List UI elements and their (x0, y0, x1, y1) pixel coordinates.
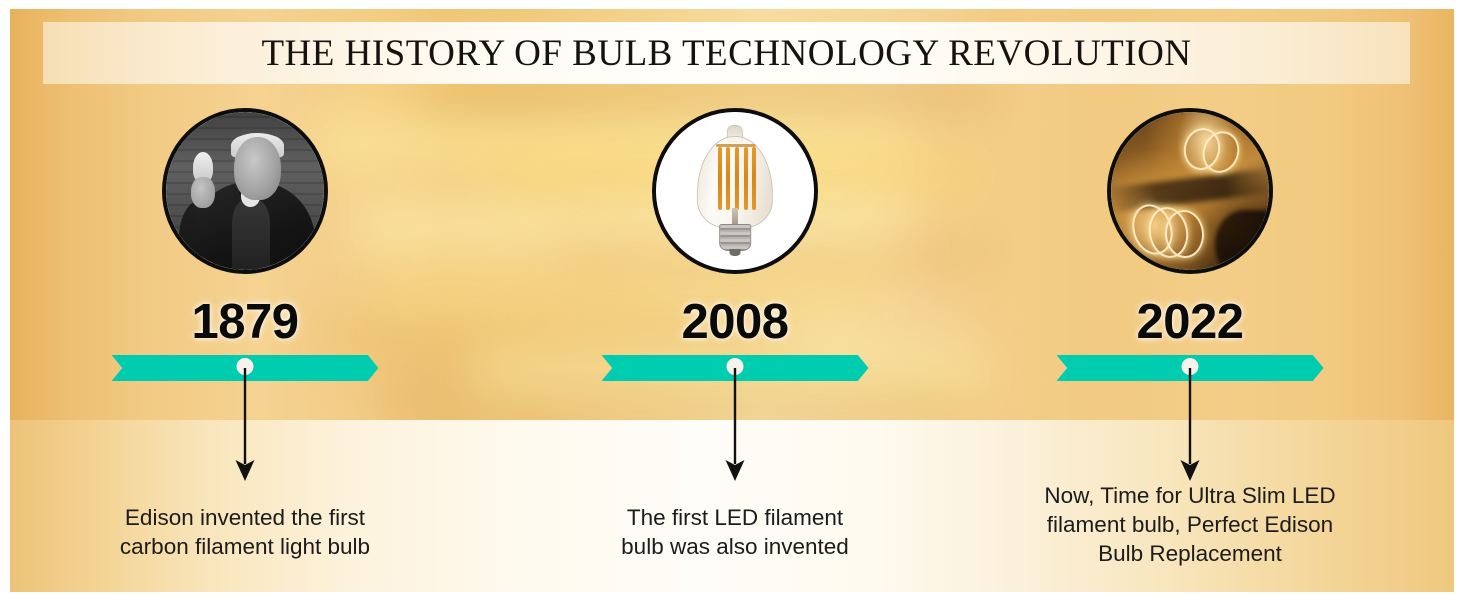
year-label: 2022 (980, 294, 1400, 350)
timeline-item-2008: 2008 The first LED filament bulb was als… (525, 0, 945, 600)
bulb-history-infographic: THE HISTORY OF BULB TECHNOLOGY REVOLUTIO… (0, 0, 1464, 600)
year-label: 2008 (525, 294, 945, 350)
connector-arrow-icon (722, 368, 748, 482)
connector-arrow-icon (1177, 368, 1203, 482)
edison-portrait-photo (162, 108, 328, 274)
glowing-spiral-filament-bulbs-photo (1107, 108, 1273, 274)
timeline-caption: The first LED filament bulb was also inv… (525, 503, 945, 561)
timeline-caption: Edison invented the first carbon filamen… (35, 503, 455, 561)
timeline-caption: Now, Time for Ultra Slim LED filament bu… (980, 481, 1400, 568)
year-label: 1879 (35, 294, 455, 350)
timeline-item-1879: 1879 Edison invented the first carbon fi… (35, 0, 455, 600)
led-filament-bulb-photo (652, 108, 818, 274)
timeline-item-2022: 2022 Now, Time for Ultra Slim LED filame… (980, 0, 1400, 600)
connector-arrow-icon (232, 368, 258, 482)
